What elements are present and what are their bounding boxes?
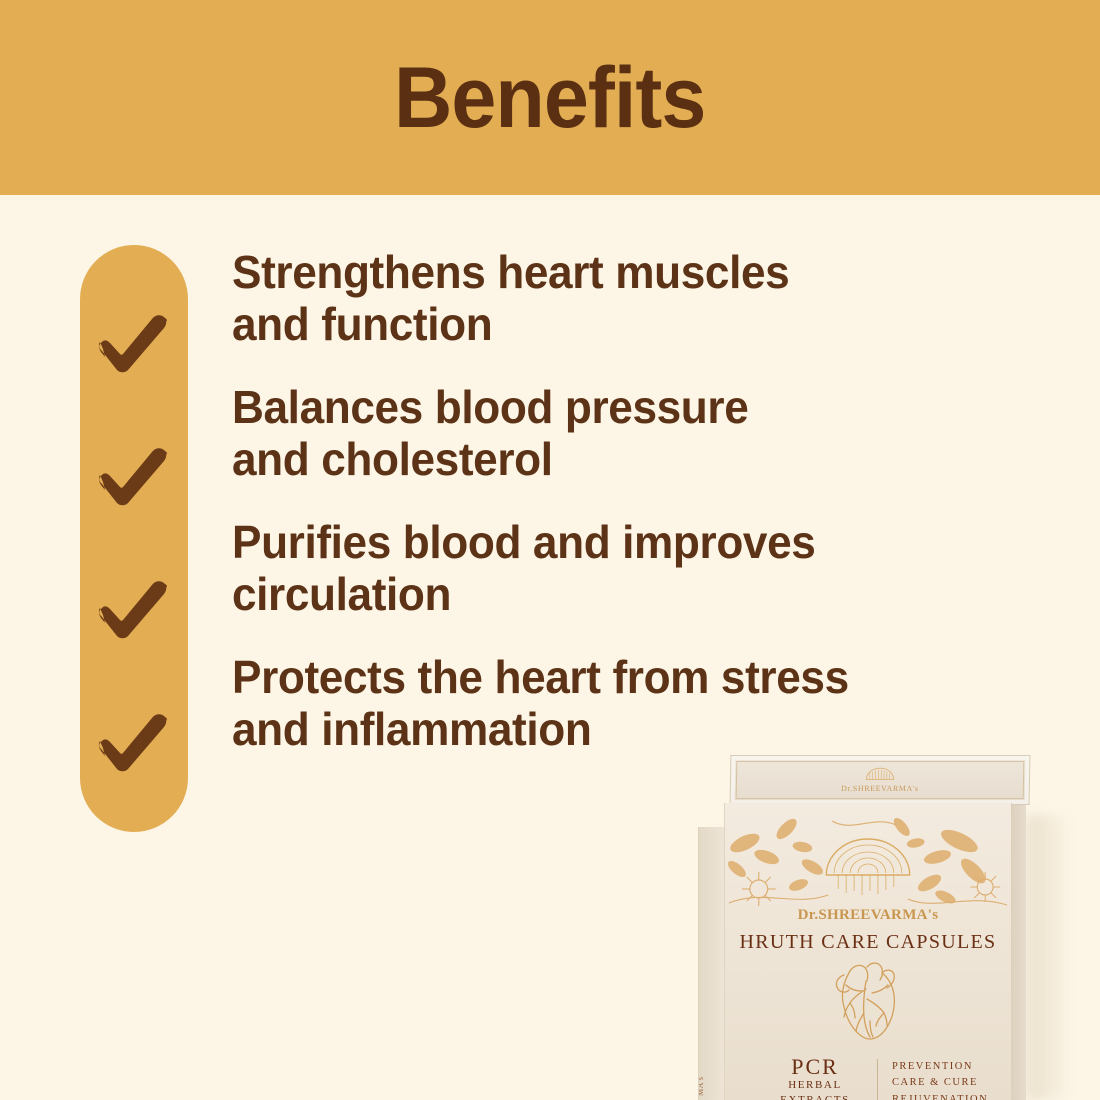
check-icon — [95, 575, 173, 639]
rejuvenation-label: REJUVENATION — [892, 1092, 988, 1100]
extracts-label: EXTRACTS — [780, 1093, 850, 1100]
box-right-edge — [1010, 803, 1026, 1100]
benefit-text: Strengthens heart muscles and function — [232, 247, 1000, 350]
brand-fan-logo-icon — [863, 767, 897, 783]
prevention-label: PREVENTION — [892, 1059, 988, 1075]
herbal-label: HERBAL — [767, 1078, 863, 1093]
floral-ornament-pattern — [725, 803, 1011, 923]
check-icon — [95, 309, 173, 373]
header-banner: Benefits — [0, 0, 1100, 195]
checkmark-column — [80, 245, 188, 832]
list-item: Strengthens heart muscles and function — [232, 247, 1032, 350]
list-item: Protects the heart from stress and infla… — [232, 652, 1032, 755]
poster-canvas: Benefits Strengthens heart muscles and f… — [0, 0, 1100, 1100]
box-lid-inner-frame: Dr.SHREEVARMA's — [736, 761, 1025, 799]
benefit-text: Protects the heart from stress and infla… — [232, 652, 1000, 755]
box-drop-shadow — [1026, 815, 1074, 1100]
box-brand-text: Dr.SHREEVARMA's — [725, 907, 1011, 924]
pcr-label: PCR — [767, 1055, 863, 1078]
box-front-face: Dr.SHREEVARMA's HRUTH CARE CAPSULES — [724, 803, 1012, 1100]
box-claims-row: PCR HERBAL EXTRACTS PREVENTION CARE & CU… — [767, 1055, 991, 1100]
box-lid: Dr.SHREEVARMA's — [730, 755, 1031, 805]
box-side-text-secondary: MA's — [698, 1077, 705, 1096]
box-product-name: HRUTH CARE CAPSULES — [725, 931, 1011, 954]
box-claims-left: PCR HERBAL EXTRACTS — [767, 1055, 863, 1100]
claims-divider — [877, 1059, 878, 1100]
box-lid-brand-text: Dr.SHREEVARMA's — [841, 784, 919, 793]
list-item: Purifies blood and improves circulation — [232, 517, 1032, 620]
check-icon — [95, 708, 173, 772]
product-package-image: Dr.SHREEVARMA's turals MA's — [694, 755, 1100, 1100]
benefit-list: Strengthens heart muscles and function B… — [232, 247, 1032, 783]
list-item: Balances blood pressure and cholesterol — [232, 382, 1032, 485]
box-claims-right: PREVENTION CARE & CURE REJUVENATION — [892, 1055, 988, 1100]
benefit-text: Balances blood pressure and cholesterol — [232, 382, 1000, 485]
care-cure-label: CARE & CURE — [892, 1075, 988, 1091]
benefit-text: Purifies blood and improves circulation — [232, 517, 1000, 620]
anatomical-heart-icon — [820, 955, 916, 1045]
check-icon — [95, 442, 173, 506]
page-title: Benefits — [394, 55, 705, 141]
